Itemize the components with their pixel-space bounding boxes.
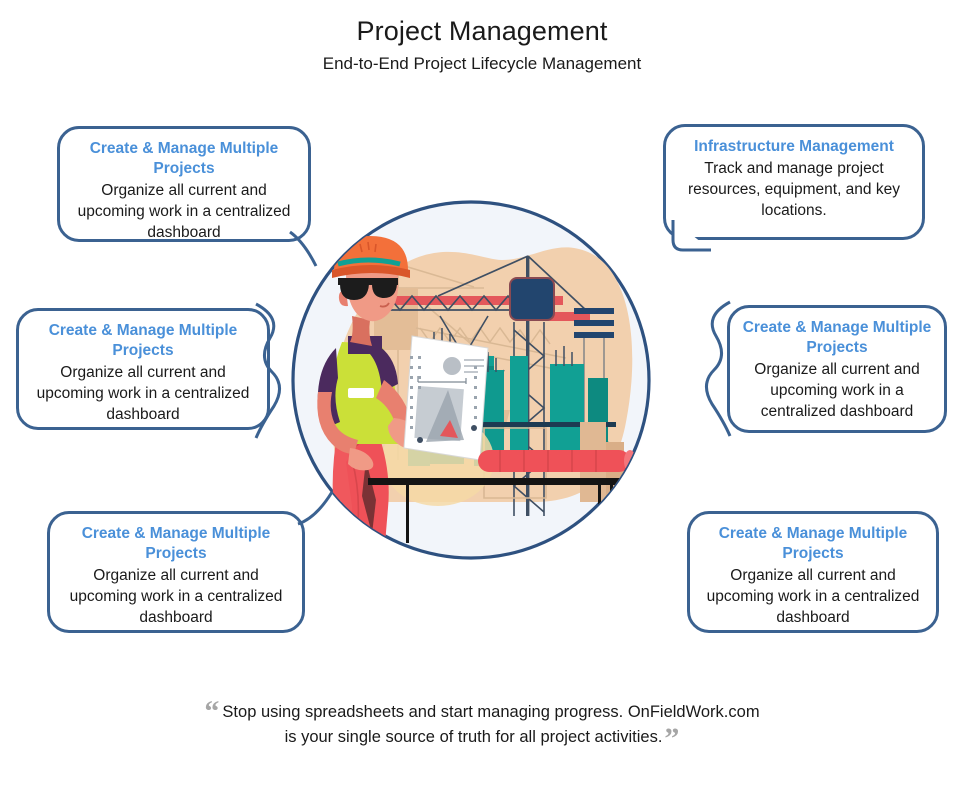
callout-top-right[interactable]: Infrastructure Management Track and mana… xyxy=(663,124,925,240)
quote-line-1: “Stop using spreadsheets and start manag… xyxy=(0,700,964,725)
callout-body: Organize all current and upcoming work i… xyxy=(31,362,255,425)
callout-title: Infrastructure Management xyxy=(678,137,910,157)
footer-quote: “Stop using spreadsheets and start manag… xyxy=(0,700,964,750)
blueprint-sheet xyxy=(404,336,488,460)
page-subtitle: End-to-End Project Lifecycle Management xyxy=(0,54,964,74)
infographic-canvas: Project Management End-to-End Project Li… xyxy=(0,0,964,802)
callout-middle-left[interactable]: Create & Manage Multiple Projects Organi… xyxy=(16,308,270,430)
quote-text-1: Stop using spreadsheets and start managi… xyxy=(222,703,759,721)
page-title: Project Management xyxy=(0,16,964,47)
callout-bottom-left[interactable]: Create & Manage Multiple Projects Organi… xyxy=(47,511,305,633)
callout-body: Track and manage project resources, equi… xyxy=(678,158,910,221)
callout-title: Create & Manage Multiple Projects xyxy=(72,139,296,179)
quote-close-icon: ” xyxy=(664,722,679,755)
callout-body: Organize all current and upcoming work i… xyxy=(62,565,290,628)
central-illustration xyxy=(288,160,654,600)
callout-body: Organize all current and upcoming work i… xyxy=(742,359,932,422)
callout-bottom-right[interactable]: Create & Manage Multiple Projects Organi… xyxy=(687,511,939,633)
callout-title: Create & Manage Multiple Projects xyxy=(742,318,932,358)
callout-body: Organize all current and upcoming work i… xyxy=(72,180,296,243)
callout-middle-right[interactable]: Create & Manage Multiple Projects Organi… xyxy=(727,305,947,433)
callout-title: Create & Manage Multiple Projects xyxy=(62,524,290,564)
quote-open-icon: “ xyxy=(204,695,219,728)
callout-title: Create & Manage Multiple Projects xyxy=(702,524,924,564)
callout-body: Organize all current and upcoming work i… xyxy=(702,565,924,628)
quote-line-2: is your single source of truth for all p… xyxy=(0,725,964,750)
callout-top-left[interactable]: Create & Manage Multiple Projects Organi… xyxy=(57,126,311,242)
quote-text-2: is your single source of truth for all p… xyxy=(285,728,663,746)
callout-title: Create & Manage Multiple Projects xyxy=(31,321,255,361)
